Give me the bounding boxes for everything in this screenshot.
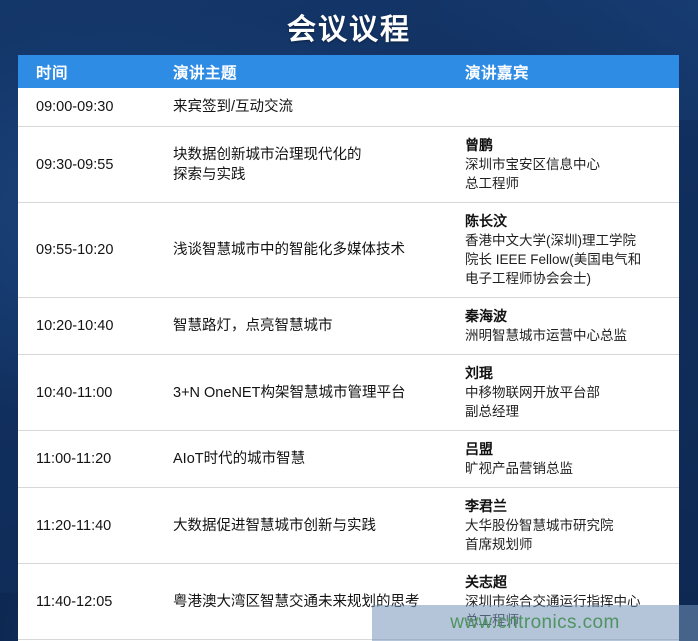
guest-title-line: 中移物联网开放平台部 [465, 383, 673, 402]
page-title: 会议议程 [0, 10, 698, 50]
topic-line: 探索与实践 [173, 165, 441, 185]
guest-title-line: 洲明智慧城市运营中心总监 [465, 326, 673, 345]
table-row: 10:20-10:40智慧路灯，点亮智慧城市秦海波洲明智慧城市运营中心总监 [18, 298, 679, 355]
cell-guest [447, 88, 679, 127]
table-row: 09:30-09:55块数据创新城市治理现代化的探索与实践曾鹏深圳市宝安区信息中… [18, 127, 679, 203]
cell-topic: 来宾签到/互动交流 [155, 88, 447, 127]
cell-time: 11:20-11:40 [18, 488, 155, 564]
table-row: 11:00-11:20AIoT时代的城市智慧吕盟旷视产品营销总监 [18, 431, 679, 488]
guest-name: 曾鹏 [465, 136, 673, 155]
guest-title-line: 副总经理 [465, 402, 673, 421]
guest-name: 秦海波 [465, 307, 673, 326]
cell-guest: 刘琨中移物联网开放平台部副总经理 [447, 355, 679, 431]
cell-topic: 智慧路灯，点亮智慧城市 [155, 298, 447, 355]
cell-time: 11:40-12:05 [18, 564, 155, 640]
topic-line: AIoT时代的城市智慧 [173, 449, 441, 469]
table-body: 09:00-09:30来宾签到/互动交流09:30-09:55块数据创新城市治理… [18, 88, 679, 641]
watermark-text: www.cntronics.com [450, 612, 619, 634]
guest-title-line: 香港中文大学(深圳)理工学院 [465, 231, 673, 250]
guest-name: 陈长汶 [465, 212, 673, 231]
guest-name: 刘琨 [465, 364, 673, 383]
cell-guest: 陈长汶香港中文大学(深圳)理工学院院长 IEEE Fellow(美国电气和电子工… [447, 203, 679, 298]
cell-topic: 大数据促进智慧城市创新与实践 [155, 488, 447, 564]
column-header-guest: 演讲嘉宾 [447, 55, 679, 88]
table-header: 时间 演讲主题 演讲嘉宾 [18, 55, 679, 88]
guest-name: 吕盟 [465, 440, 673, 459]
watermark: www.cntronics.com [372, 605, 698, 641]
cell-topic: 块数据创新城市治理现代化的探索与实践 [155, 127, 447, 203]
column-header-time: 时间 [18, 55, 155, 88]
agenda-table: 时间 演讲主题 演讲嘉宾 09:00-09:30来宾签到/互动交流09:30-0… [18, 55, 679, 641]
cell-topic: AIoT时代的城市智慧 [155, 431, 447, 488]
cell-time: 09:30-09:55 [18, 127, 155, 203]
topic-line: 浅谈智慧城市中的智能化多媒体技术 [173, 240, 441, 260]
topic-line: 块数据创新城市治理现代化的 [173, 145, 441, 165]
cell-time: 11:00-11:20 [18, 431, 155, 488]
cell-time: 10:20-10:40 [18, 298, 155, 355]
cell-time: 09:55-10:20 [18, 203, 155, 298]
guest-title-line: 电子工程师协会会士) [465, 269, 673, 288]
table-row: 11:20-11:40大数据促进智慧城市创新与实践李君兰大华股份智慧城市研究院首… [18, 488, 679, 564]
guest-title-line: 总工程师 [465, 174, 673, 193]
guest-title-line: 大华股份智慧城市研究院 [465, 516, 673, 535]
guest-title-line: 院长 IEEE Fellow(美国电气和 [465, 250, 673, 269]
guest-title-line: 首席规划师 [465, 535, 673, 554]
topic-line: 来宾签到/互动交流 [173, 97, 441, 117]
column-header-topic: 演讲主题 [155, 55, 447, 88]
guest-title-line: 深圳市宝安区信息中心 [465, 155, 673, 174]
cell-time: 09:00-09:30 [18, 88, 155, 127]
cell-guest: 曾鹏深圳市宝安区信息中心总工程师 [447, 127, 679, 203]
guest-name: 关志超 [465, 573, 673, 592]
topic-line: 智慧路灯，点亮智慧城市 [173, 316, 441, 336]
cell-guest: 秦海波洲明智慧城市运营中心总监 [447, 298, 679, 355]
cell-topic: 浅谈智慧城市中的智能化多媒体技术 [155, 203, 447, 298]
topic-line: 大数据促进智慧城市创新与实践 [173, 516, 441, 536]
table-row: 09:00-09:30来宾签到/互动交流 [18, 88, 679, 127]
topic-line: 3+N OneNET构架智慧城市管理平台 [173, 383, 441, 403]
guest-title-line: 旷视产品营销总监 [465, 459, 673, 478]
table-header-row: 时间 演讲主题 演讲嘉宾 [18, 55, 679, 88]
cell-topic: 3+N OneNET构架智慧城市管理平台 [155, 355, 447, 431]
agenda-poster: 会议议程 时间 演讲主题 演讲嘉宾 09:00-09:30来宾签到/互动交流09… [0, 0, 698, 641]
table-row: 09:55-10:20浅谈智慧城市中的智能化多媒体技术陈长汶香港中文大学(深圳)… [18, 203, 679, 298]
guest-name: 李君兰 [465, 497, 673, 516]
cell-guest: 吕盟旷视产品营销总监 [447, 431, 679, 488]
table-row: 10:40-11:003+N OneNET构架智慧城市管理平台刘琨中移物联网开放… [18, 355, 679, 431]
cell-time: 10:40-11:00 [18, 355, 155, 431]
cell-guest: 李君兰大华股份智慧城市研究院首席规划师 [447, 488, 679, 564]
